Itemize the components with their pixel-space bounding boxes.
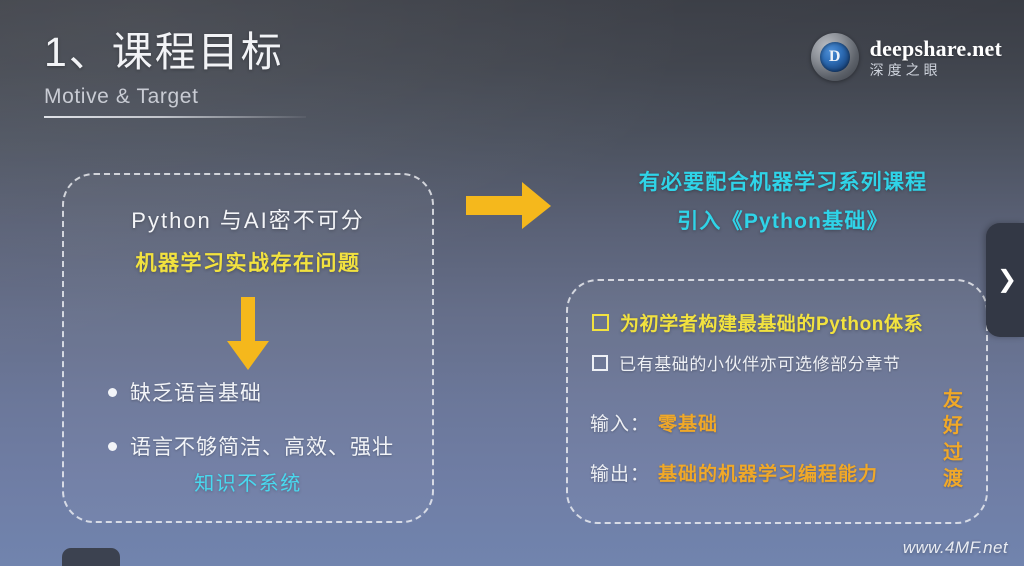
slide-canvas: 1、课程目标 Motive & Target D deepshare.net 深… [0,0,1024,566]
brand-text: deepshare.net 深度之眼 [870,37,1002,77]
checkbox-icon [592,314,609,331]
right-arrow-icon [466,182,552,235]
bullet-dot-icon [108,442,117,451]
vertical-note-char: 友 [940,387,966,413]
brand-logo: D deepshare.net 深度之眼 [811,33,1002,81]
brand-tagline: 深度之眼 [870,63,1002,77]
vertical-note-char: 好 [940,413,966,439]
input-value: 零基础 [658,409,718,436]
list-item-label: 已有基础的小伙伴亦可选修部分章节 [619,350,901,375]
input-label: 输入： [590,409,650,436]
solution-panel: 为初学者构建最基础的Python体系 已有基础的小伙伴亦可选修部分章节 输入： … [566,279,988,524]
logo-iris: D [820,42,850,72]
problem-headline: Python 与AI密不可分 [64,203,432,235]
output-value: 基础的机器学习编程能力 [658,459,878,486]
solution-heading-line2: 引入《Python基础》 [600,211,966,232]
logo-letter: D [829,49,841,65]
slide-header: 1、课程目标 Motive & Target [44,30,464,118]
list-item-label: 语言不够简洁、高效、强壮 [130,431,394,461]
watermark-text: www.4MF.net [903,538,1008,558]
vertical-note: 友 好 过 渡 [940,387,966,493]
deepshare-eye-icon: D [811,33,859,81]
title-underline-rule [44,116,306,118]
output-row: 输出： 基础的机器学习编程能力 [590,459,878,486]
checkbox-icon [592,355,608,371]
list-item: 缺乏语言基础 [108,377,412,407]
next-slide-tab[interactable]: ❯ [986,223,1024,337]
chevron-right-icon: ❯ [997,268,1017,292]
page-subtitle: Motive & Target [44,85,464,109]
solution-heading-line1: 有必要配合机器学习系列课程 [600,172,966,193]
list-item-label: 缺乏语言基础 [130,377,262,407]
problem-statement: 机器学习实战存在问题 [64,247,432,277]
vertical-note-char: 过 [940,440,966,466]
input-row: 输入： 零基础 [590,409,718,436]
bottom-handle[interactable] [62,548,120,566]
vertical-note-char: 渡 [940,466,966,492]
bullet-dot-icon [108,388,117,397]
solution-heading: 有必要配合机器学习系列课程 引入《Python基础》 [600,172,966,232]
list-item: 为初学者构建最基础的Python体系 [592,309,923,336]
list-item: 已有基础的小伙伴亦可选修部分章节 [592,350,901,375]
page-title: 1、课程目标 [44,30,464,76]
output-label: 输出： [590,459,650,486]
list-item-label: 为初学者构建最基础的Python体系 [620,309,923,336]
brand-name: deepshare.net [870,37,1002,60]
list-item: 语言不够简洁、高效、强壮 [108,431,412,461]
problem-panel: Python 与AI密不可分 机器学习实战存在问题 缺乏语言基础 语言不够简洁、… [62,173,434,523]
down-arrow-icon [226,297,270,376]
problem-footer-note: 知识不系统 [64,467,432,496]
